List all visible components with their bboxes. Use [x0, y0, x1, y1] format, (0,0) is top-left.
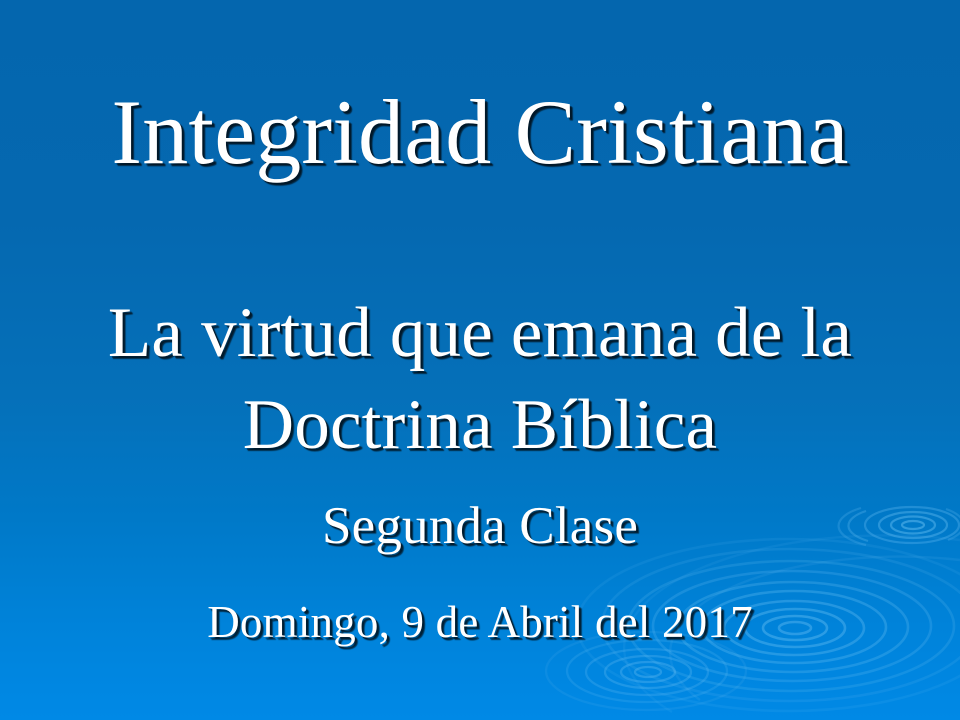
slide-subtitle-line-1: La virtud que emana de la: [0, 290, 960, 377]
slide-title: Integridad Cristiana: [0, 84, 960, 181]
slide-session-label: Segunda Clase: [0, 497, 960, 555]
slide-text-layer: Integridad Cristiana La virtud que emana…: [0, 0, 960, 720]
title-slide: Integridad Cristiana La virtud que emana…: [0, 0, 960, 720]
slide-subtitle-line-2: Doctrina Bíblica: [0, 382, 960, 469]
slide-date: Domingo, 9 de Abril del 2017: [0, 598, 960, 648]
